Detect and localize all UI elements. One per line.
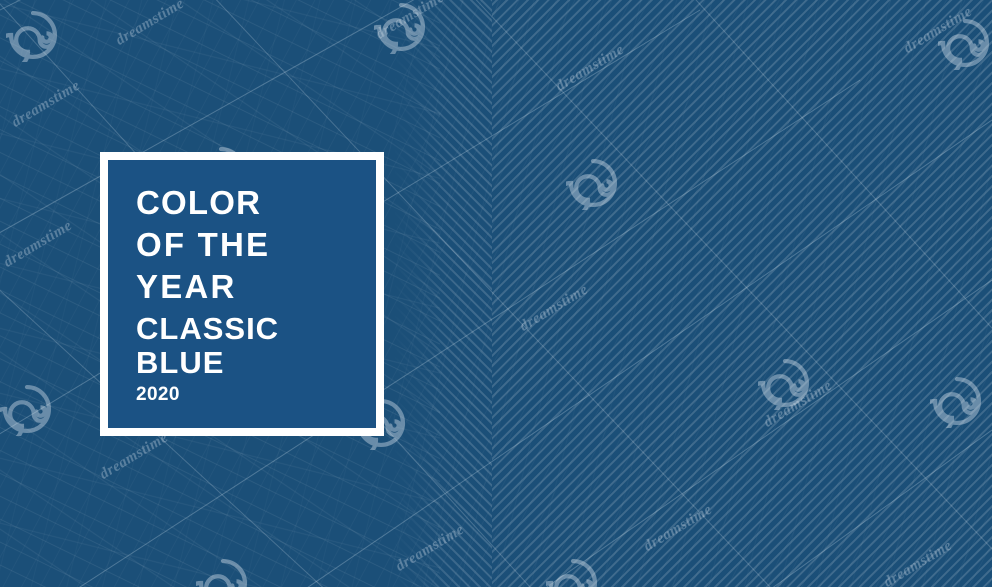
poster-card-frame: COLOR OF THE YEAR CLASSIC BLUE 2020 <box>100 152 384 436</box>
chevron-stripes-right <box>492 0 992 587</box>
poster-canvas: dreamstimedreamstimedreamstimedreamstime… <box>0 0 992 587</box>
poster-card-content: COLOR OF THE YEAR CLASSIC BLUE 2020 <box>108 160 376 428</box>
headline-line-1: COLOR <box>136 182 376 224</box>
headline: COLOR OF THE YEAR <box>136 182 376 308</box>
headline-line-2: OF THE YEAR <box>136 224 376 308</box>
card-bottom-block: CLASSIC BLUE 2020 <box>136 312 376 406</box>
subtitle-classic-blue: CLASSIC BLUE <box>136 312 376 380</box>
year-label: 2020 <box>136 384 376 406</box>
